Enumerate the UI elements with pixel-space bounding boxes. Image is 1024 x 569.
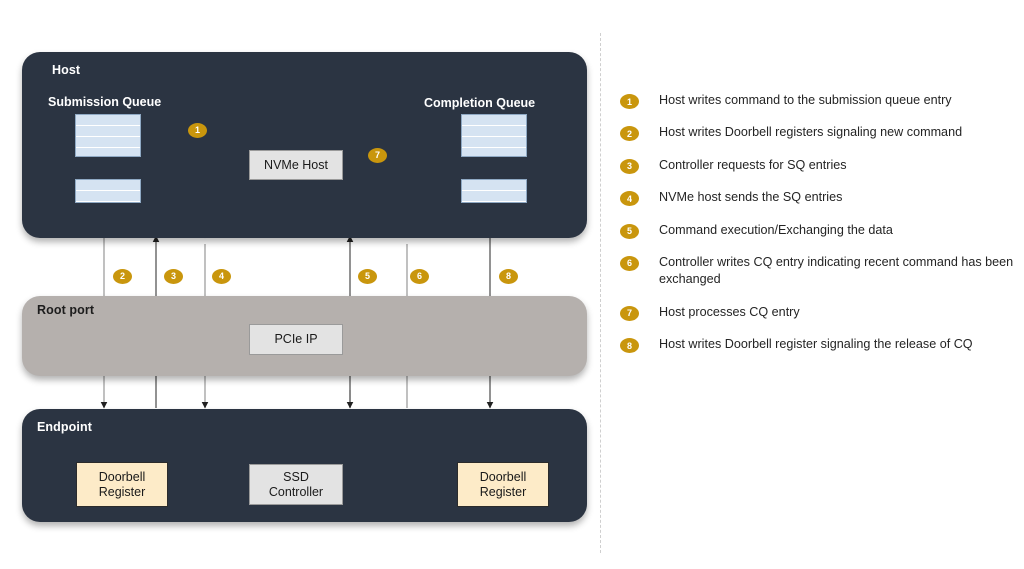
legend-item: 8 Host writes Doorbell register signalin… <box>620 336 1020 353</box>
legend-badge: 3 <box>620 159 639 174</box>
ssd-controller-box: SSD Controller <box>249 464 343 505</box>
legend-list: 1 Host writes command to the submission … <box>620 92 1020 368</box>
legend-badge: 2 <box>620 126 639 141</box>
pcie-ip-box: PCIe IP <box>249 324 343 355</box>
completion-queue-block-entry <box>461 179 527 203</box>
legend-badge: 6 <box>620 256 639 271</box>
submission-queue-label: Submission Queue <box>48 95 161 109</box>
doorbell-right-line1: Doorbell <box>480 470 527 485</box>
legend-item: 7 Host processes CQ entry <box>620 304 1020 321</box>
completion-queue-label: Completion Queue <box>424 96 535 110</box>
submission-queue-block-entry <box>75 179 141 203</box>
legend-text: Controller requests for SQ entries <box>659 157 847 174</box>
legend-badge: 7 <box>620 306 639 321</box>
legend-text: Host writes Doorbell registers signaling… <box>659 124 962 141</box>
badge-7: 7 <box>368 148 387 163</box>
doorbell-register-right-box: Doorbell Register <box>457 462 549 507</box>
badge-8: 8 <box>499 269 518 284</box>
panel-endpoint-title: Endpoint <box>37 420 92 434</box>
panel-root-port-title: Root port <box>37 303 94 317</box>
doorbell-left-line1: Doorbell <box>99 470 146 485</box>
legend-item: 5 Command execution/Exchanging the data <box>620 222 1020 239</box>
legend-badge: 1 <box>620 94 639 109</box>
doorbell-register-left-box: Doorbell Register <box>76 462 168 507</box>
legend-item: 3 Controller requests for SQ entries <box>620 157 1020 174</box>
panel-host-title: Host <box>52 63 80 77</box>
diagram-canvas: Host Submission Queue Completion Queue N… <box>0 0 1024 569</box>
badge-6: 6 <box>410 269 429 284</box>
doorbell-left-line2: Register <box>99 485 146 500</box>
section-divider <box>600 33 601 553</box>
badge-1: 1 <box>188 123 207 138</box>
legend-text: Host writes command to the submission qu… <box>659 92 952 109</box>
nvme-host-box: NVMe Host <box>249 150 343 180</box>
legend-text: Host processes CQ entry <box>659 304 800 321</box>
legend-text: NVMe host sends the SQ entries <box>659 189 842 206</box>
completion-queue-block-main <box>461 114 527 157</box>
legend-text: Controller writes CQ entry indicating re… <box>659 254 1020 289</box>
legend-badge: 4 <box>620 191 639 206</box>
legend-item: 1 Host writes command to the submission … <box>620 92 1020 109</box>
badge-5: 5 <box>358 269 377 284</box>
submission-queue-block-main <box>75 114 141 157</box>
legend-text: Host writes Doorbell register signaling … <box>659 336 973 353</box>
legend-item: 6 Controller writes CQ entry indicating … <box>620 254 1020 289</box>
doorbell-right-line2: Register <box>480 485 527 500</box>
badge-2: 2 <box>113 269 132 284</box>
legend-text: Command execution/Exchanging the data <box>659 222 893 239</box>
legend-item: 4 NVMe host sends the SQ entries <box>620 189 1020 206</box>
badge-4: 4 <box>212 269 231 284</box>
legend-badge: 5 <box>620 224 639 239</box>
ssd-controller-line2: Controller <box>269 485 323 500</box>
legend-item: 2 Host writes Doorbell registers signali… <box>620 124 1020 141</box>
badge-3: 3 <box>164 269 183 284</box>
ssd-controller-line1: SSD <box>283 470 309 485</box>
legend-badge: 8 <box>620 338 639 353</box>
